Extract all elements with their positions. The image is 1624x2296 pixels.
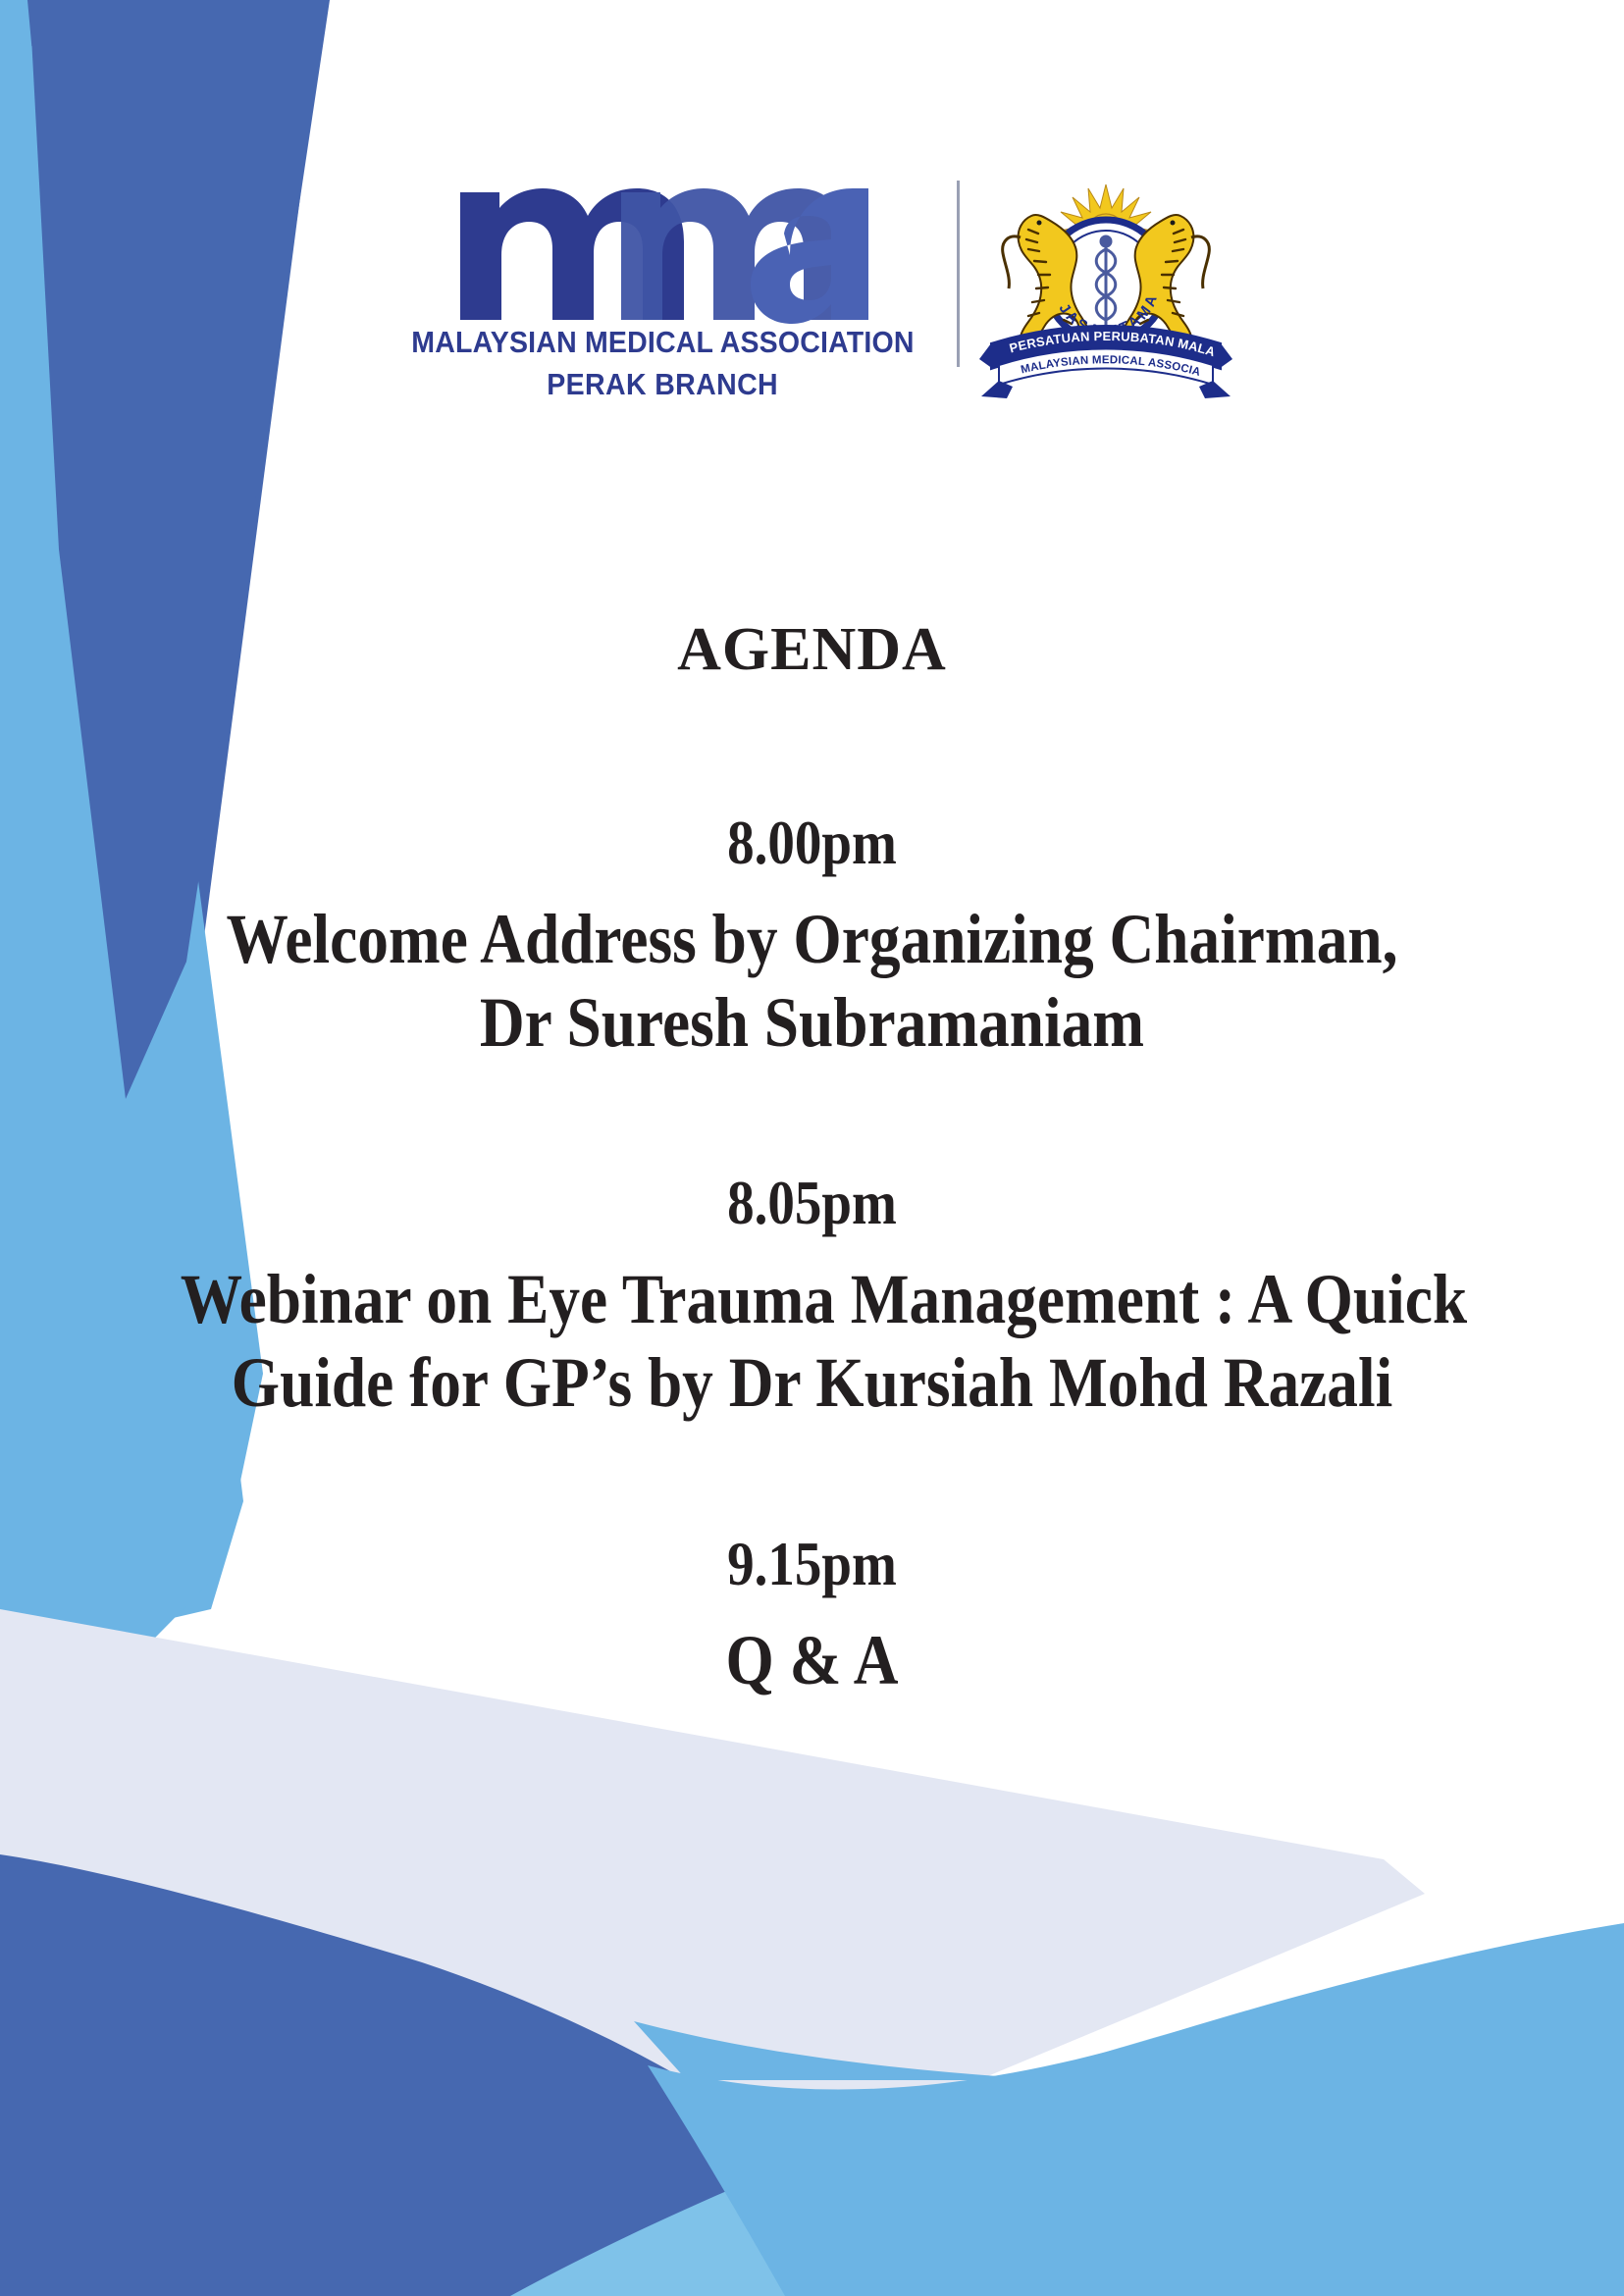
- poster-page: MALAYSIAN MEDICAL ASSOCIATION PERAK BRAN…: [0, 0, 1624, 2296]
- agenda-item: 9.15pm Q & A: [94, 1533, 1530, 1700]
- bottom-right-pale-blue: [510, 1938, 1624, 2296]
- logo-organisation-name: MALAYSIAN MEDICAL ASSOCIATION: [411, 325, 914, 360]
- mma-wordmark: MALAYSIAN MEDICAL ASSOCIATION PERAK BRAN…: [390, 175, 952, 418]
- agenda-content: AGENDA 8.00pm Welcome Address by Organiz…: [94, 618, 1530, 1699]
- agenda-description-line: Webinar on Eye Trauma Management : A Qui…: [181, 1260, 1443, 1339]
- logo-branch-name: PERAK BRANCH: [547, 367, 778, 402]
- bottom-right-blue-wave: [648, 1923, 1624, 2296]
- agenda-time: 8.05pm: [194, 1172, 1429, 1234]
- page-title: AGENDA: [94, 618, 1530, 682]
- agenda-description-line: Welcome Address by Organizing Chairman,: [181, 900, 1443, 979]
- logo-divider: [957, 181, 960, 367]
- mma-logo-block: MALAYSIAN MEDICAL ASSOCIATION PERAK BRAN…: [0, 175, 1624, 418]
- mma-crest-icon: JASA UTAMA PERSATUAN PERUBATAN MALAYSIA: [977, 177, 1234, 412]
- bottom-dark-blue-sweep: [0, 1854, 942, 2296]
- agenda-time: 8.00pm: [194, 811, 1429, 874]
- agenda-description-line: Q & A: [181, 1621, 1443, 1700]
- agenda-item: 8.00pm Welcome Address by Organizing Cha…: [94, 811, 1530, 1062]
- blue-sliver-accent: [634, 2021, 1060, 2080]
- mma-letters-icon: [456, 175, 868, 324]
- agenda-schedule-list: 8.00pm Welcome Address by Organizing Cha…: [94, 811, 1530, 1699]
- agenda-description-line: Guide for GP’s by Dr Kursiah Mohd Razali: [181, 1343, 1443, 1423]
- lavender-diagonal-band: [0, 1609, 1425, 2296]
- agenda-description-line: Dr Suresh Subramaniam: [181, 983, 1443, 1063]
- agenda-item: 8.05pm Webinar on Eye Trauma Management …: [94, 1172, 1530, 1422]
- agenda-time: 9.15pm: [194, 1533, 1429, 1595]
